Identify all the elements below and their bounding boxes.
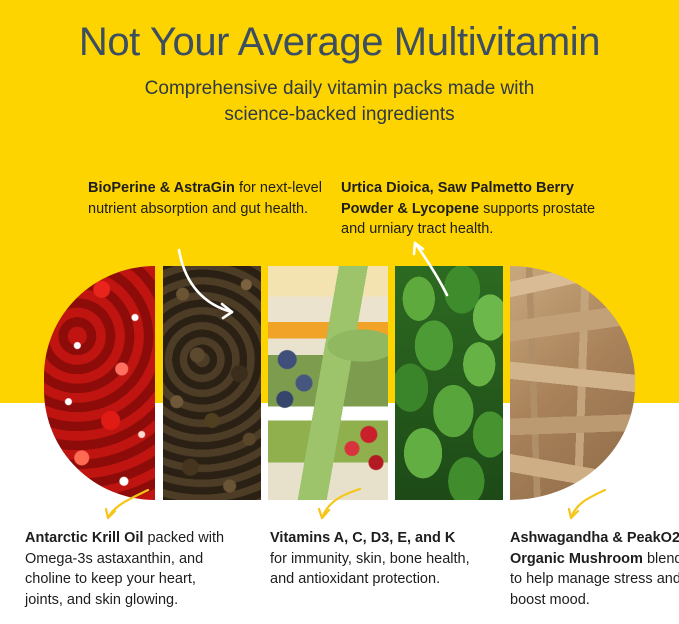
ingredient-image-produce [268,266,388,500]
infographic-canvas: Not Your Average Multivitamin Comprehens… [0,0,679,624]
callout-vitamins-lead: Vitamins A, C, D3, E, and K [270,530,455,546]
callout-urtica: Urtica Dioica, Saw Palmetto Berry Powder… [341,178,613,240]
ingredient-image-ashwagandha-root [510,266,635,500]
callout-vitamins: Vitamins A, C, D3, E, and K for immunity… [270,528,475,590]
callout-bioperine: BioPerine & AstraGin for next-level nutr… [88,178,328,219]
ingredient-image-peppercorns [163,266,261,500]
callout-ashwagandha: Ashwagandha & PeakO2 Organic Mushroom bl… [510,528,679,610]
ingredient-image-krill-oil [44,266,155,500]
callout-bioperine-lead: BioPerine & AstraGin [88,180,235,196]
callout-vitamins-body: for immunity, skin, bone health, and ant… [270,551,470,588]
callout-krill-lead: Antarctic Krill Oil [25,530,143,546]
ingredient-image-nettle-leaves [395,266,503,500]
callout-krill: Antarctic Krill Oil packed with Omega-3s… [25,528,225,610]
